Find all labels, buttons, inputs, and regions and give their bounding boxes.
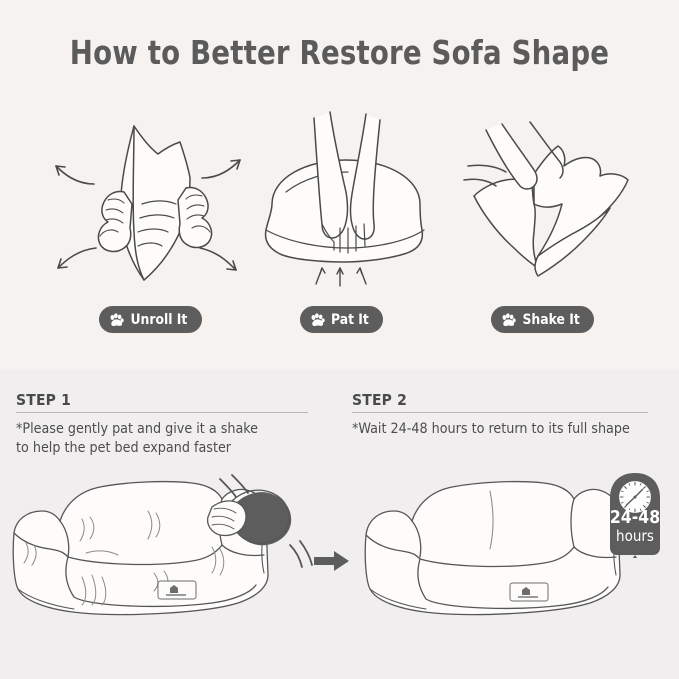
brand-tag [158,581,196,599]
duration-badge: 24-48 hours [606,470,664,558]
step-1-title: STEP 1 [16,391,308,412]
method-pill-pat[interactable]: Pat It [300,306,383,333]
pet-bed-restored [365,482,620,615]
method-label: Shake It [523,312,580,328]
method-pill-shake[interactable]: Shake It [491,306,594,333]
step-2-body: *Wait 24-48 hours to return to its full … [352,420,648,439]
right-hand [178,187,212,247]
shaking-fabric [474,146,628,276]
badge-shape [606,470,664,558]
paw-icon [501,313,516,327]
step-1-block: STEP 1 *Please gently pat and give it a … [16,391,308,457]
method-label: Unroll It [130,312,187,328]
paw-icon [109,313,124,327]
step-1-illustration [6,455,326,635]
page-title: How to Better Restore Sofa Shape [24,33,655,72]
step-2-rule [352,412,648,413]
right-arrow-icon [312,548,352,574]
shake-illustration [438,108,650,298]
unroll-illustration [38,108,260,298]
clock-icon [619,481,652,514]
brand-tag [510,583,548,601]
step-1-rule [16,412,308,413]
method-label: Pat It [331,312,369,328]
left-hand [98,191,132,251]
step-1-body: *Please gently pat and give it a shake t… [16,420,308,457]
methods-label-row: Unroll It Pat It Shake It [0,306,679,336]
transition-arrow [312,548,352,574]
pat-illustration [248,108,444,298]
step-2-title: STEP 2 [352,391,648,412]
method-pill-unroll[interactable]: Unroll It [99,306,202,333]
upward-arrows [316,268,366,286]
step-2-block: STEP 2 *Wait 24-48 hours to return to it… [352,391,648,439]
methods-illustration-row [0,108,679,298]
infographic-page: How to Better Restore Sofa Shape [0,0,679,679]
paw-icon [310,313,325,327]
